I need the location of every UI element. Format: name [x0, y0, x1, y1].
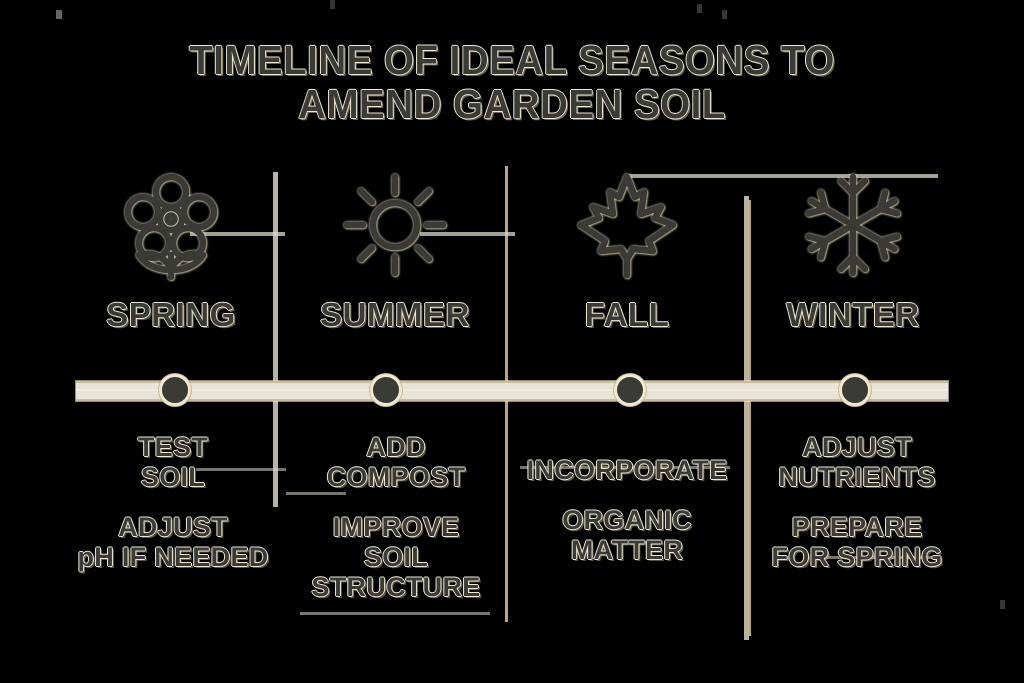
season-label-fall: FALL	[522, 296, 732, 334]
season-label-summer: SUMMER	[290, 296, 500, 334]
column-spring: SPRING	[66, 160, 276, 334]
task-item: IMPROVE SOIL STRUCTURE	[281, 512, 511, 602]
tasks-fall: INCORPORATE ORGANIC MATTER	[512, 455, 742, 565]
tasks-summer: ADD COMPOST IMPROVE SOIL STRUCTURE	[281, 432, 511, 602]
connector-line-summer-structure	[300, 612, 490, 615]
column-summer: SUMMER	[290, 160, 500, 334]
maple-leaf-icon	[522, 160, 732, 290]
timeline-marker-fall[interactable]	[614, 374, 646, 406]
snowflake-icon	[748, 160, 958, 290]
decorative-dashed-line-bottom-right	[1000, 600, 1005, 680]
season-label-winter: WINTER	[748, 296, 958, 334]
timeline-bar-inner-line	[76, 389, 948, 391]
timeline-marker-spring[interactable]	[159, 374, 191, 406]
column-winter: WINTER	[748, 160, 958, 334]
task-item: ORGANIC MATTER	[512, 505, 742, 565]
season-label-spring: SPRING	[66, 296, 276, 334]
flower-icon	[66, 160, 276, 290]
task-item: TEST SOIL	[58, 432, 288, 492]
task-item: ADJUST NUTRIENTS	[742, 432, 972, 492]
timeline-bar	[76, 381, 948, 401]
column-fall: FALL	[522, 160, 732, 334]
infographic-canvas: TIMELINE OF IDEAL SEASONS TO AMEND GARDE…	[0, 0, 1024, 683]
timeline-marker-summer[interactable]	[370, 374, 402, 406]
sun-icon	[290, 160, 500, 290]
page-title: TIMELINE OF IDEAL SEASONS TO AMEND GARDE…	[31, 38, 994, 126]
task-item: ADJUST pH IF NEEDED	[58, 512, 288, 572]
task-item: PREPARE FOR SPRING	[742, 512, 972, 572]
tasks-winter: ADJUST NUTRIENTS PREPARE FOR SPRING	[742, 432, 972, 572]
timeline-marker-winter[interactable]	[839, 374, 871, 406]
task-item: INCORPORATE	[512, 455, 742, 485]
task-item: ADD COMPOST	[281, 432, 511, 492]
tasks-spring: TEST SOIL ADJUST pH IF NEEDED	[58, 432, 288, 572]
